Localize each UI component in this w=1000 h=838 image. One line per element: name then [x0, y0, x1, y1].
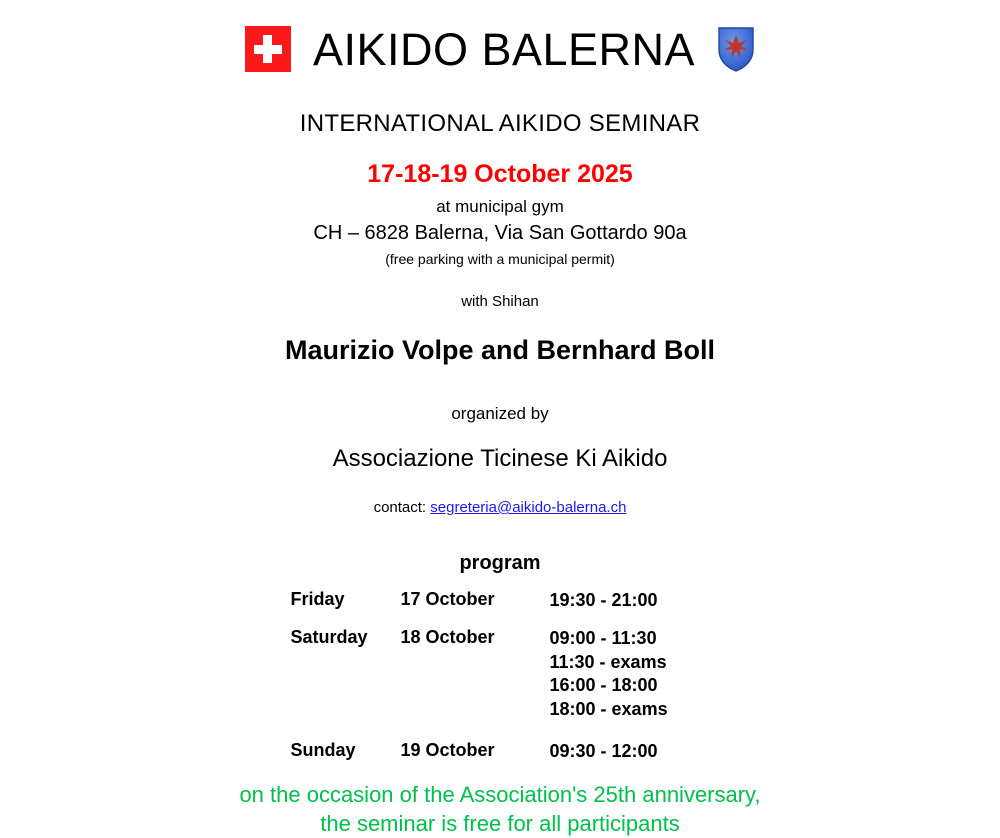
balerna-coat-of-arms-icon: [717, 26, 755, 72]
organizer-label: organized by: [0, 404, 1000, 424]
program-day: Saturday: [291, 627, 401, 740]
program-heading: program: [0, 552, 1000, 575]
venue-name: at municipal gym: [0, 197, 1000, 217]
contact-line: contact: segreteria@aikido-balerna.ch: [0, 499, 1000, 516]
swiss-flag-icon: [245, 26, 291, 72]
time-slot: 11:30 - exams: [550, 651, 710, 675]
venue-address: CH – 6828 Balerna, Via San Gottardo 90a: [0, 222, 1000, 245]
program-times: 09:00 - 11:30 11:30 - exams 16:00 - 18:0…: [550, 627, 710, 740]
anniversary-note: on the occasion of the Association's 25t…: [0, 780, 1000, 838]
program-date: 19 October: [401, 740, 550, 764]
program-day: Sunday: [291, 740, 401, 764]
contact-email-link[interactable]: segreteria@aikido-balerna.ch: [430, 499, 626, 516]
contact-label: contact:: [374, 499, 427, 516]
anniversary-note-line1: on the occasion of the Association's 25t…: [0, 780, 1000, 809]
organizer-name: Associazione Ticinese Ki Aikido: [0, 445, 1000, 473]
instructor-names: Maurizio Volpe and Bernhard Boll: [0, 335, 1000, 366]
program-times: 09:30 - 12:00: [550, 740, 710, 764]
time-slot: 18:00 - exams: [550, 698, 710, 722]
program-date: 18 October: [401, 627, 550, 740]
program-table: Friday 17 October 19:30 - 21:00 Saturday…: [291, 589, 710, 764]
time-slot: 09:30 - 12:00: [550, 740, 710, 764]
page-title: AIKIDO BALERNA: [313, 27, 695, 72]
anniversary-note-line2: the seminar is free for all participants: [0, 809, 1000, 838]
program-table-body: Friday 17 October 19:30 - 21:00 Saturday…: [291, 589, 710, 764]
program-day: Friday: [291, 589, 401, 627]
instructor-label: with Shihan: [0, 293, 1000, 310]
table-row: Sunday 19 October 09:30 - 12:00: [291, 740, 710, 764]
time-slot: 19:30 - 21:00: [550, 589, 710, 613]
flyer-header: AIKIDO BALERNA: [0, 0, 1000, 72]
parking-note: (free parking with a municipal permit): [0, 251, 1000, 267]
seminar-date: 17-18-19 October 2025: [0, 160, 1000, 189]
table-row: Saturday 18 October 09:00 - 11:30 11:30 …: [291, 627, 710, 740]
table-row: Friday 17 October 19:30 - 21:00: [291, 589, 710, 627]
seminar-title: INTERNATIONAL AIKIDO SEMINAR: [0, 110, 1000, 138]
time-slot: 16:00 - 18:00: [550, 674, 710, 698]
time-slot: 09:00 - 11:30: [550, 627, 710, 651]
flyer-page: AIKIDO BALERNA INTERNATIONAL AIKIDO SEMI…: [0, 0, 1000, 800]
program-times: 19:30 - 21:00: [550, 589, 710, 627]
program-date: 17 October: [401, 589, 550, 627]
